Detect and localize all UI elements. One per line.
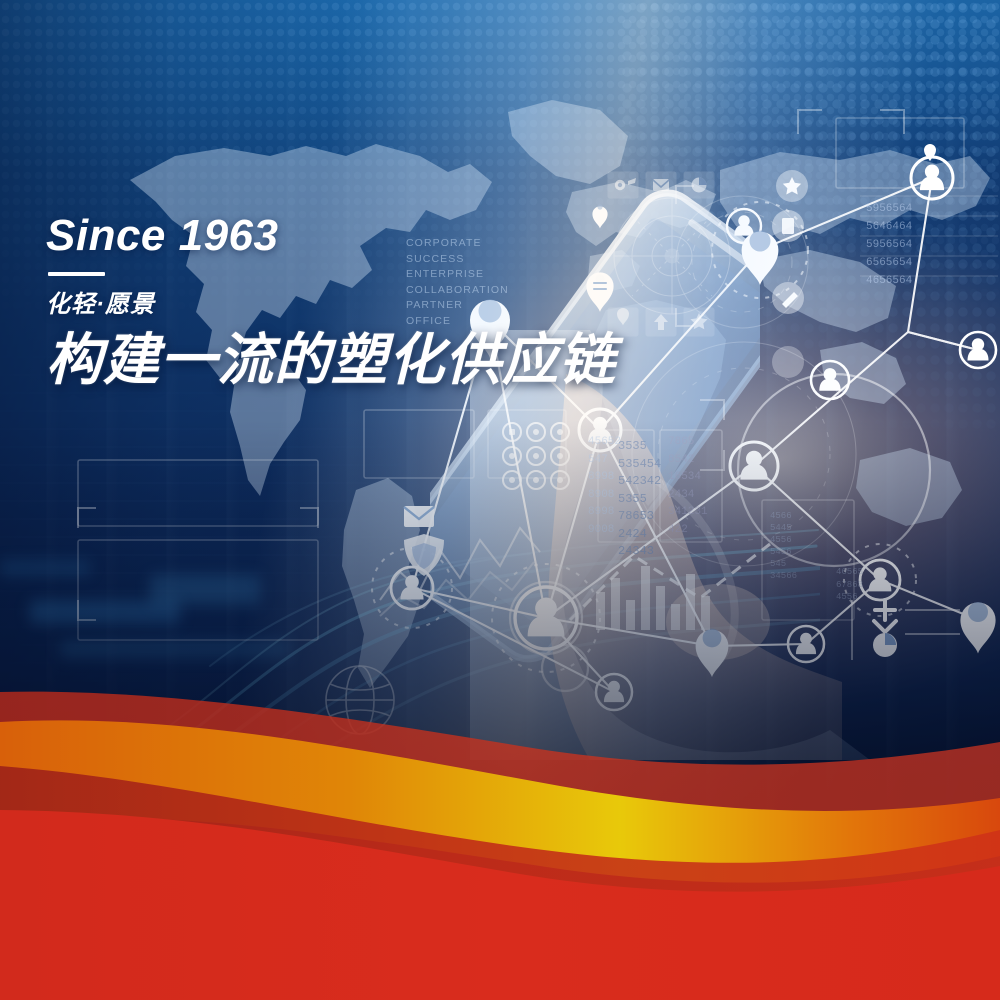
subtitle-text: 化轻·愿景 [46,284,616,319]
headline-block: Since 1963 化轻·愿景 构建一流的塑化供应链 [46,214,616,390]
wave-graphic [0,670,1000,1000]
eyebrow-text: Since 1963 [46,214,616,258]
page-title: 构建一流的塑化供应链 [46,331,616,390]
divider-rule [48,272,105,276]
promo-banner: CORPORATE SUCCESS ENTERPRISE COLLABORATI… [0,0,1000,1000]
